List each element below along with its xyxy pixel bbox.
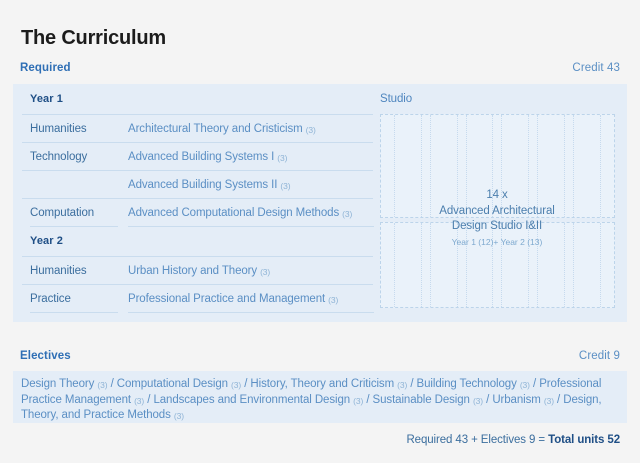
elective-separator: / <box>363 394 372 406</box>
course-credits: (3) <box>328 295 338 305</box>
studio-name-line2: Design Studio I&II <box>373 219 621 235</box>
elective-credits: (3) <box>397 380 407 390</box>
elective-credits: (3) <box>97 380 107 390</box>
course-name: Advanced Building Systems II <box>128 179 277 191</box>
elective-separator: / <box>407 378 416 390</box>
elective-credits: (3) <box>134 396 144 406</box>
totals-line: Required 43 + Electives 9 = Total units … <box>406 434 620 446</box>
year-label: Year 1 <box>30 93 63 105</box>
course-credits: (3) <box>260 267 270 277</box>
category-cell: Technology <box>22 142 118 170</box>
course-cell: Advanced Computational Design Methods(3) <box>118 198 373 226</box>
elective-credits: (3) <box>473 396 483 406</box>
course-cell: Professional Practice and Management(3) <box>118 284 373 312</box>
course-name: Architectural Theory and Cristicism <box>128 123 303 135</box>
totals-prefix: Required 43 + Electives 9 = <box>406 434 548 446</box>
elective-name: Sustainable Design <box>373 394 473 406</box>
course-name: Advanced Building Systems I <box>128 151 274 163</box>
curriculum-page: The Curriculum Required Credit 43 Year 1… <box>0 0 640 463</box>
required-label: Required <box>20 62 71 74</box>
year-label: Year 2 <box>30 235 63 247</box>
studio-title: Studio <box>380 93 412 105</box>
elective-separator: / <box>107 378 116 390</box>
table-row[interactable]: Technology Advanced Building Systems I(3… <box>22 142 373 170</box>
table-row[interactable]: Computation Advanced Computational Desig… <box>22 198 373 226</box>
category-cell: Practice <box>22 284 118 312</box>
elective-name: Computational Design <box>117 378 231 390</box>
table-row[interactable]: Humanities Architectural Theory and Cris… <box>22 114 373 142</box>
studio-caption: 14 x Advanced Architectural Design Studi… <box>373 188 621 248</box>
elective-credits: (3) <box>520 380 530 390</box>
elective-separator: / <box>554 394 563 406</box>
studio-count: 14 x <box>373 188 621 204</box>
elective-credits: (3) <box>353 396 363 406</box>
studio-name-line1: Advanced Architectural <box>373 204 621 220</box>
elective-name: Building Technology <box>417 378 520 390</box>
required-panel: Year 1 Humanities Architectural Theory a… <box>13 84 627 322</box>
category-cell <box>22 170 118 198</box>
course-cell: Urban History and Theory(3) <box>118 256 373 284</box>
course-credits: (3) <box>306 125 316 135</box>
electives-panel: Design Theory (3) / Computational Design… <box>13 371 627 423</box>
electives-label: Electives <box>20 350 71 362</box>
course-name: Urban History and Theory <box>128 265 257 277</box>
year-heading-row: Year 1 <box>22 84 373 114</box>
course-cell: Architectural Theory and Cristicism(3) <box>118 114 373 142</box>
elective-credits: (3) <box>544 396 554 406</box>
category-cell: Computation <box>22 198 118 226</box>
electives-credit: Credit 9 <box>579 350 620 362</box>
totals-strong: Total units 52 <box>548 434 620 446</box>
elective-separator: / <box>241 378 250 390</box>
table-row[interactable]: Humanities Urban History and Theory(3) <box>22 256 373 284</box>
required-credit: Credit 43 <box>572 62 620 74</box>
required-section-header: Required Credit 43 <box>20 62 620 74</box>
course-credits: (3) <box>280 181 290 191</box>
elective-name: Design Theory <box>21 378 97 390</box>
elective-credits: (3) <box>174 411 184 421</box>
electives-section-header: Electives Credit 9 <box>20 350 620 362</box>
elective-separator: / <box>483 394 492 406</box>
elective-name: History, Theory and Criticism <box>250 378 397 390</box>
studio-stack: 14 x Advanced Architectural Design Studi… <box>373 114 621 314</box>
year-heading-row: Year 2 <box>22 226 373 256</box>
electives-list: Design Theory (3) / Computational Design… <box>21 377 619 424</box>
category-cell: Humanities <box>22 114 118 142</box>
course-name: Professional Practice and Management <box>128 293 325 305</box>
courses-column: Year 1 Humanities Architectural Theory a… <box>13 84 373 322</box>
elective-name: Landscapes and Environmental Design <box>153 394 353 406</box>
studio-column: Studio 14 x Advance <box>373 84 627 322</box>
course-credits: (3) <box>277 153 287 163</box>
elective-credits: (3) <box>231 380 241 390</box>
course-cell: Advanced Building Systems I(3) <box>118 142 373 170</box>
table-row[interactable]: Practice Professional Practice and Manag… <box>22 284 373 312</box>
course-cell: Advanced Building Systems II(3) <box>118 170 373 198</box>
category-cell: Humanities <box>22 256 118 284</box>
course-name: Advanced Computational Design Methods <box>128 207 339 219</box>
page-title: The Curriculum <box>21 27 166 50</box>
table-row[interactable]: Advanced Building Systems II(3) <box>22 170 373 198</box>
elective-name: Urbanism <box>492 394 544 406</box>
elective-separator: / <box>530 378 539 390</box>
course-credits: (3) <box>342 209 352 219</box>
studio-breakdown: Year 1 (12)+ Year 2 (13) <box>373 237 621 248</box>
studio-header: Studio <box>373 84 621 114</box>
